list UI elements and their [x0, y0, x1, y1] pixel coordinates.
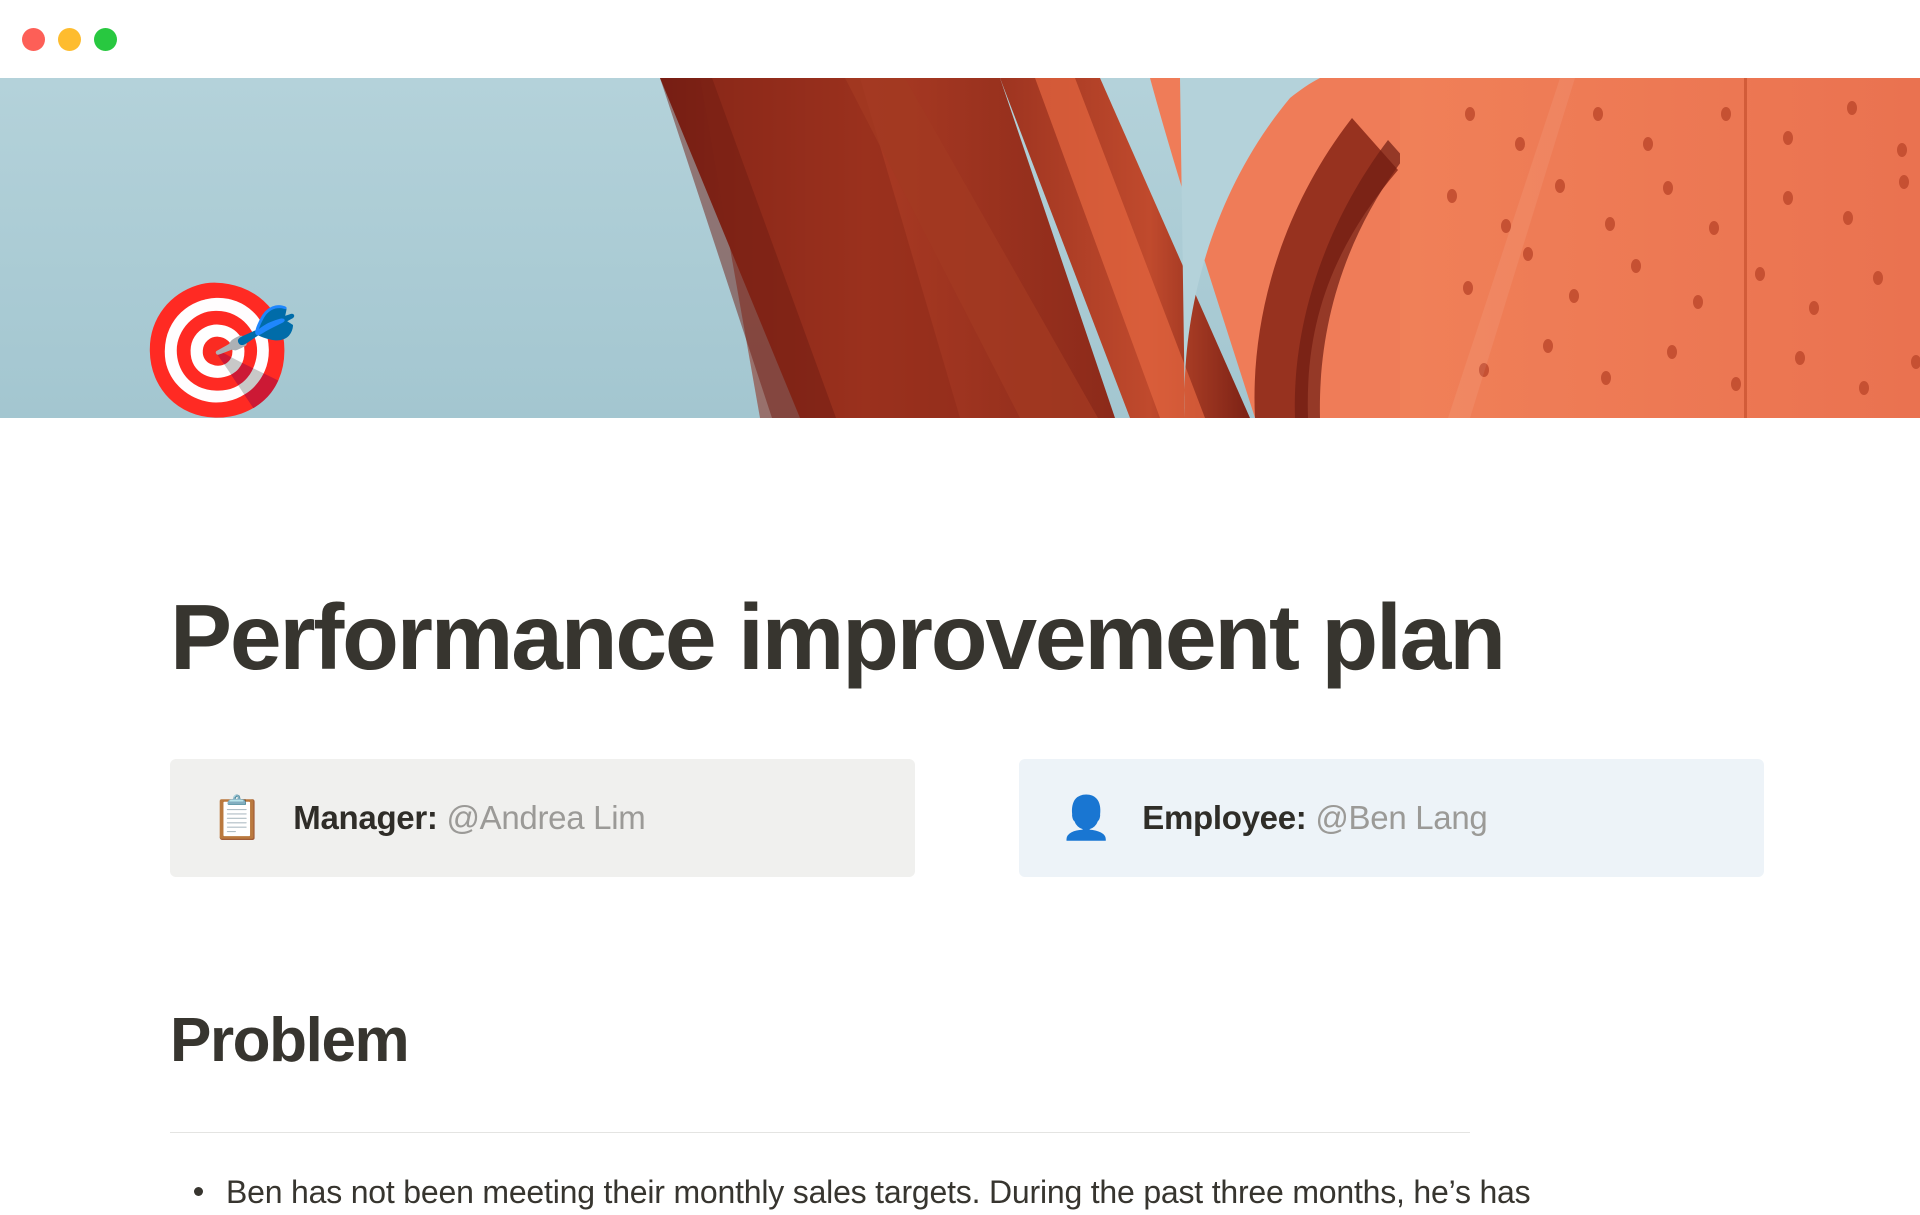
document-body: Performance improvement plan 📋 Manager: …: [0, 418, 1920, 1215]
section-divider: [170, 1132, 1470, 1133]
page-title[interactable]: Performance improvement plan: [170, 590, 1920, 685]
close-window-button[interactable]: [22, 28, 45, 51]
problem-bullet-list: Ben has not been meeting their monthly s…: [170, 1169, 1920, 1215]
bust-in-silhouette-emoji: 👤: [1060, 797, 1112, 839]
list-item[interactable]: Ben has not been meeting their monthly s…: [170, 1169, 1920, 1215]
maximize-window-button[interactable]: [94, 28, 117, 51]
callout-employee[interactable]: 👤 Employee: @Ben Lang: [1019, 759, 1764, 877]
section-heading-problem[interactable]: Problem: [170, 1005, 1920, 1076]
callout-manager-label: Manager:: [293, 799, 437, 836]
callout-manager-text: Manager: @Andrea Lim: [293, 799, 645, 837]
target-dart-emoji[interactable]: 🎯: [135, 285, 295, 417]
window-titlebar: [0, 0, 1920, 78]
callout-employee-text: Employee: @Ben Lang: [1142, 799, 1487, 837]
callout-manager[interactable]: 📋 Manager: @Andrea Lim: [170, 759, 915, 877]
minimize-window-button[interactable]: [58, 28, 81, 51]
app-window: 🎯 Performance improvement plan 📋 Manager…: [0, 0, 1920, 1200]
callout-employee-mention[interactable]: @Ben Lang: [1315, 799, 1487, 836]
clipboard-emoji: 📋: [211, 797, 263, 839]
callout-row: 📋 Manager: @Andrea Lim 👤 Employee: @Ben …: [170, 759, 1920, 877]
callout-employee-label: Employee:: [1142, 799, 1306, 836]
callout-manager-mention[interactable]: @Andrea Lim: [446, 799, 645, 836]
